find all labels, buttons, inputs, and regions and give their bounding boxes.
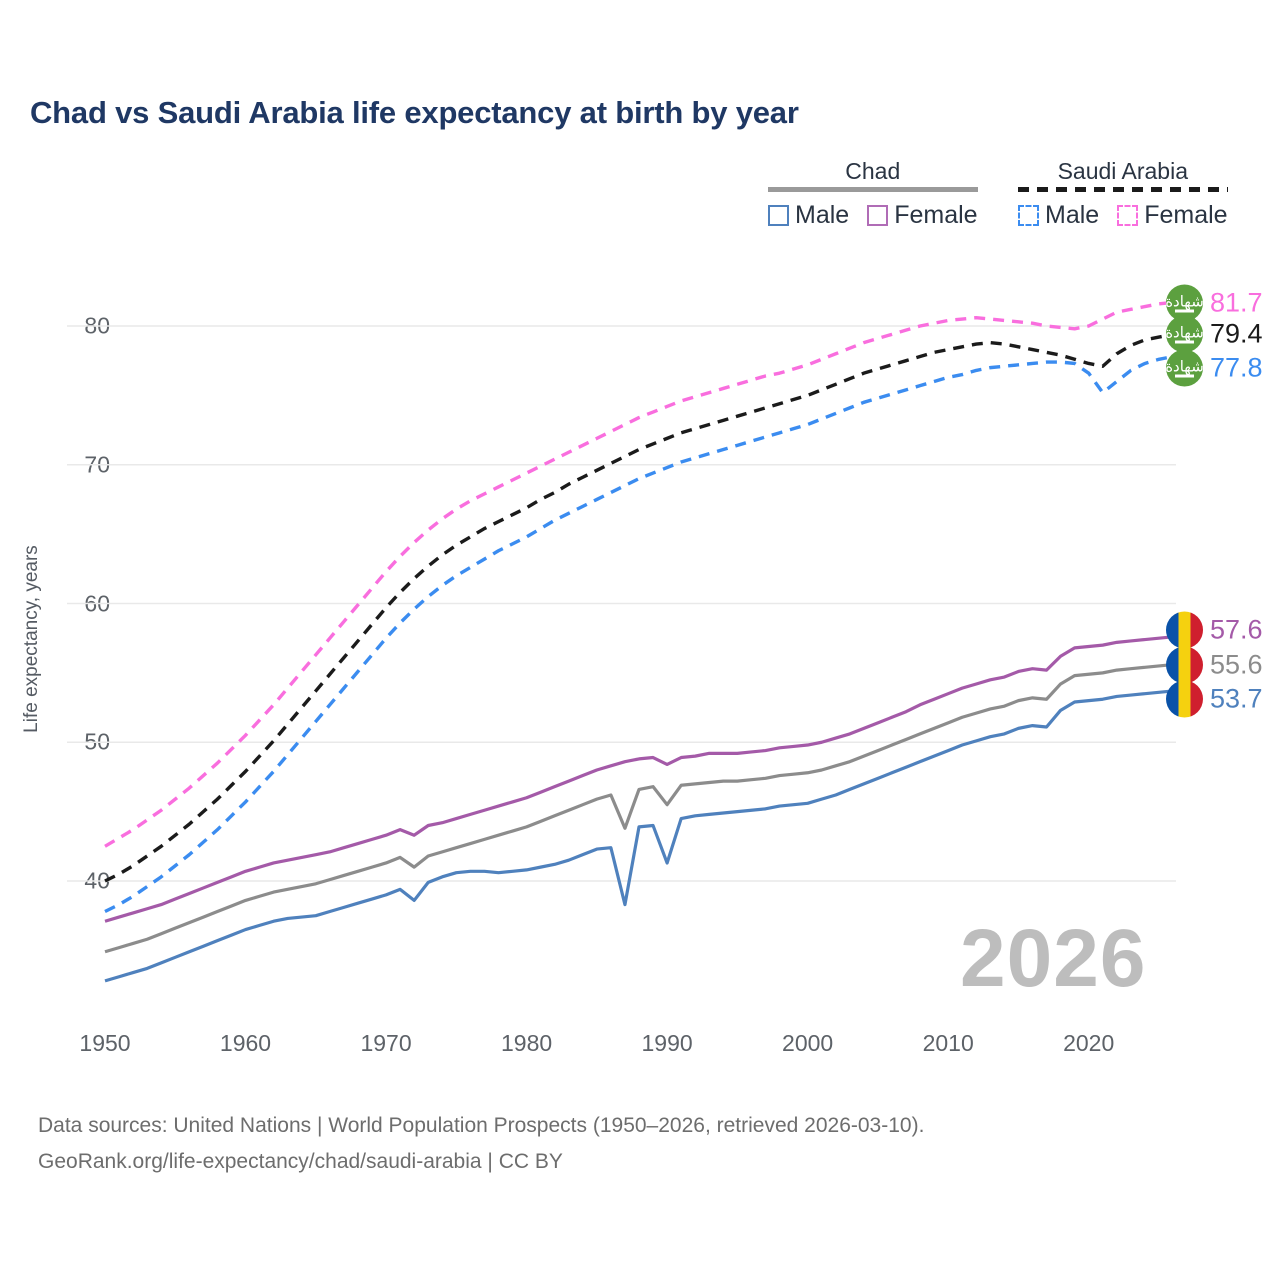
y-axis-label: Life expectancy, years — [21, 489, 43, 789]
y-axis-tick-label: 60 — [84, 590, 110, 617]
series-end-value: 53.7 — [1210, 684, 1263, 715]
series-end-label: شهادة77.8 — [1166, 350, 1263, 387]
x-axis-tick-label: 2010 — [923, 1030, 974, 1057]
legend-item-saudi-female[interactable]: Female — [1117, 201, 1227, 230]
legend-swatch-icon — [867, 205, 888, 226]
y-axis-tick-label: 50 — [84, 729, 110, 756]
x-axis-tick-label: 2000 — [782, 1030, 833, 1057]
footer-line-url: GeoRank.org/life-expectancy/chad/saudi-a… — [38, 1144, 924, 1180]
series-end-value: 77.8 — [1210, 353, 1263, 384]
legend-rule-saudi-arabia — [1018, 187, 1228, 192]
series-line — [105, 357, 1173, 912]
series-line — [105, 665, 1173, 952]
page-title: Chad vs Saudi Arabia life expectancy at … — [30, 95, 799, 131]
legend-label: Female — [1144, 201, 1227, 230]
chad-flag-icon — [1166, 612, 1203, 649]
series-line — [105, 334, 1173, 881]
y-axis-tick-label: 70 — [84, 451, 110, 478]
saudi-arabia-flag-icon: شهادة — [1166, 316, 1203, 353]
series-end-value: 81.7 — [1210, 288, 1263, 319]
legend-country-chad: Chad — [768, 158, 978, 184]
legend-swatch-icon — [768, 205, 789, 226]
x-axis-tick-label: 1960 — [220, 1030, 271, 1057]
legend-group-saudi-arabia: Saudi Arabia Male Female — [1018, 158, 1228, 230]
series-end-label: 55.6 — [1166, 647, 1263, 684]
chad-flag-icon — [1166, 681, 1203, 718]
x-axis-tick-label: 2020 — [1063, 1030, 1114, 1057]
series-line — [105, 637, 1173, 921]
legend-label: Female — [894, 201, 977, 230]
legend-group-chad: Chad Male Female — [768, 158, 978, 230]
series-end-value: 55.6 — [1210, 650, 1263, 681]
x-axis-tick-label: 1950 — [79, 1030, 130, 1057]
x-axis-tick-label: 1990 — [642, 1030, 693, 1057]
y-axis-tick-label: 80 — [84, 313, 110, 340]
legend-label: Male — [1045, 201, 1099, 230]
year-watermark: 2026 — [960, 912, 1146, 1006]
series-end-value: 79.4 — [1210, 319, 1263, 350]
legend-swatch-icon — [1117, 205, 1138, 226]
x-axis-tick-label: 1980 — [501, 1030, 552, 1057]
legend-swatch-icon — [1018, 205, 1039, 226]
series-end-label: 57.6 — [1166, 612, 1263, 649]
y-axis-tick-label: 40 — [84, 868, 110, 895]
series-end-label: شهادة79.4 — [1166, 316, 1263, 353]
legend-item-chad-female[interactable]: Female — [867, 201, 977, 230]
legend-rule-chad — [768, 187, 978, 192]
saudi-arabia-flag-icon: شهادة — [1166, 350, 1203, 387]
chart-legend: Chad Male Female Saudi Arabia Male — [760, 158, 1260, 248]
series-line — [105, 302, 1173, 846]
footer-credits: Data sources: United Nations | World Pop… — [38, 1108, 924, 1180]
footer-line-sources: Data sources: United Nations | World Pop… — [38, 1108, 924, 1144]
chad-flag-icon — [1166, 647, 1203, 684]
legend-item-chad-male[interactable]: Male — [768, 201, 849, 230]
legend-item-saudi-male[interactable]: Male — [1018, 201, 1099, 230]
legend-country-saudi-arabia: Saudi Arabia — [1018, 158, 1228, 184]
series-end-label: 53.7 — [1166, 681, 1263, 718]
x-axis-tick-label: 1970 — [360, 1030, 411, 1057]
legend-label: Male — [795, 201, 849, 230]
series-end-value: 57.6 — [1210, 615, 1263, 646]
